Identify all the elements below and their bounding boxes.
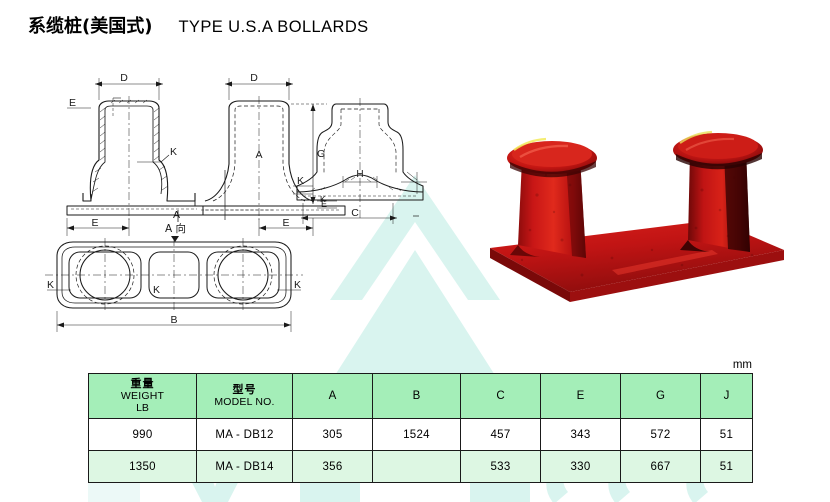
header-weight-en: WEIGHT	[89, 390, 196, 402]
table-unit-label: mm	[733, 359, 752, 371]
dim-label-C-right: C	[351, 207, 359, 219]
header-model-en: MODEL NO.	[197, 396, 292, 408]
dim-label-K-plan-right: K	[294, 279, 301, 291]
page-title-chinese: 系缆桩(美国式)	[28, 12, 152, 38]
header-dim-b: B	[373, 374, 461, 419]
dim-label-K-plan-left: K	[47, 279, 54, 291]
bollard-spec-table: 重量 WEIGHT LB 型号 MODEL NO. A B C E G J	[88, 373, 753, 483]
cell-weight: 1350	[89, 451, 197, 483]
cell-dim-c: 533	[461, 451, 541, 483]
table-header-row: 重量 WEIGHT LB 型号 MODEL NO. A B C E G J	[89, 374, 753, 419]
cell-dim-b	[373, 451, 461, 483]
bollard-spec-sheet: 系缆桩(美国式) TYPE U.S.A BOLLARDS	[0, 0, 830, 502]
cell-dim-j: 51	[701, 419, 753, 451]
cell-dim-j: 51	[701, 451, 753, 483]
spec-table-container: 重量 WEIGHT LB 型号 MODEL NO. A B C E G J	[88, 373, 753, 483]
cell-dim-e: 330	[541, 451, 621, 483]
plan-view-direction-label: A 向	[165, 222, 186, 235]
dim-label-K-plan-mid: K	[153, 284, 160, 296]
cell-dim-e: 343	[541, 419, 621, 451]
table-row: 990 MA - DB12 305 1524 457 343 572 51	[89, 419, 753, 451]
cell-dim-b: 1524	[373, 419, 461, 451]
dim-label-D-left: D	[120, 72, 128, 84]
header-dim-a: A	[293, 374, 373, 419]
header-weight-cn: 重量	[89, 378, 196, 390]
header-model: 型号 MODEL NO.	[197, 374, 293, 419]
header-dim-g: G	[621, 374, 701, 419]
cell-dim-c: 457	[461, 419, 541, 451]
header-dim-c: C	[461, 374, 541, 419]
header-dim-e: E	[541, 374, 621, 419]
dim-label-E-upper-left: E	[69, 97, 76, 109]
dim-label-D-middle: D	[250, 72, 258, 84]
cell-dim-g: 667	[621, 451, 701, 483]
page-title-english: TYPE U.S.A BOLLARDS	[178, 18, 368, 37]
header-dim-j: J	[701, 374, 753, 419]
cell-dim-g: 572	[621, 419, 701, 451]
dim-label-K-left: K	[170, 146, 177, 158]
cell-dim-a: 305	[293, 419, 373, 451]
header-model-cn: 型号	[197, 384, 292, 396]
product-photo-bollard	[462, 100, 812, 320]
dim-label-H-right: H	[356, 169, 363, 180]
dim-label-B-plan: B	[170, 314, 177, 326]
technical-drawings: D E K E	[45, 60, 445, 350]
cell-weight: 990	[89, 419, 197, 451]
table-row: 1350 MA - DB14 356 533 330 667 51	[89, 451, 753, 483]
dim-label-K-right-lower: K	[320, 194, 326, 204]
dim-label-A-middle: A	[255, 149, 262, 161]
cell-model: MA - DB14	[197, 451, 293, 483]
dim-label-K-right: K	[297, 175, 304, 187]
cell-model: MA - DB12	[197, 419, 293, 451]
dim-label-E-bottom-left: E	[91, 217, 98, 229]
dim-label-E-bottom-middle: E	[282, 217, 289, 229]
cell-dim-a: 356	[293, 451, 373, 483]
page-title: 系缆桩(美国式) TYPE U.S.A BOLLARDS	[28, 12, 369, 38]
header-weight-unit: LB	[89, 402, 196, 414]
section-arrow-label-A: A	[173, 209, 180, 221]
header-weight: 重量 WEIGHT LB	[89, 374, 197, 419]
